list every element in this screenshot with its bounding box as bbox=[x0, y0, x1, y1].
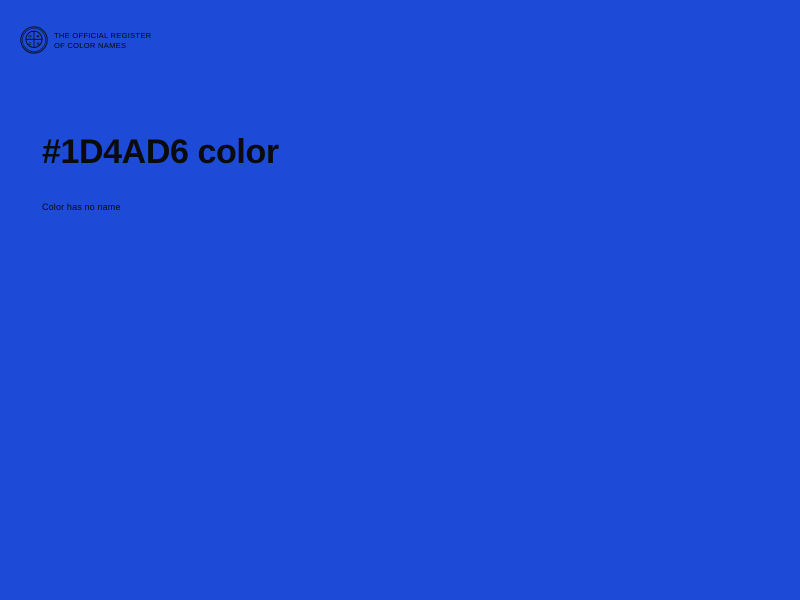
register-seal-icon: O R C N bbox=[20, 26, 48, 54]
svg-text:C: C bbox=[28, 41, 31, 46]
color-swatch-background bbox=[0, 0, 800, 600]
color-name-status: Color has no name bbox=[42, 201, 279, 213]
brand-wordmark: THE OFFICIAL REGISTER OF COLOR NAMES bbox=[54, 30, 151, 50]
color-info-block: #1D4AD6 color Color has no name bbox=[42, 130, 279, 213]
svg-text:O: O bbox=[28, 34, 31, 39]
brand-line-2: OF COLOR NAMES bbox=[54, 41, 151, 50]
svg-text:N: N bbox=[37, 41, 40, 46]
brand-line-1: THE OFFICIAL REGISTER bbox=[54, 31, 151, 40]
page-title: #1D4AD6 color bbox=[42, 130, 279, 174]
site-header[interactable]: O R C N THE OFFICIAL REGISTER OF COLOR N… bbox=[20, 26, 151, 54]
svg-text:R: R bbox=[37, 34, 40, 39]
